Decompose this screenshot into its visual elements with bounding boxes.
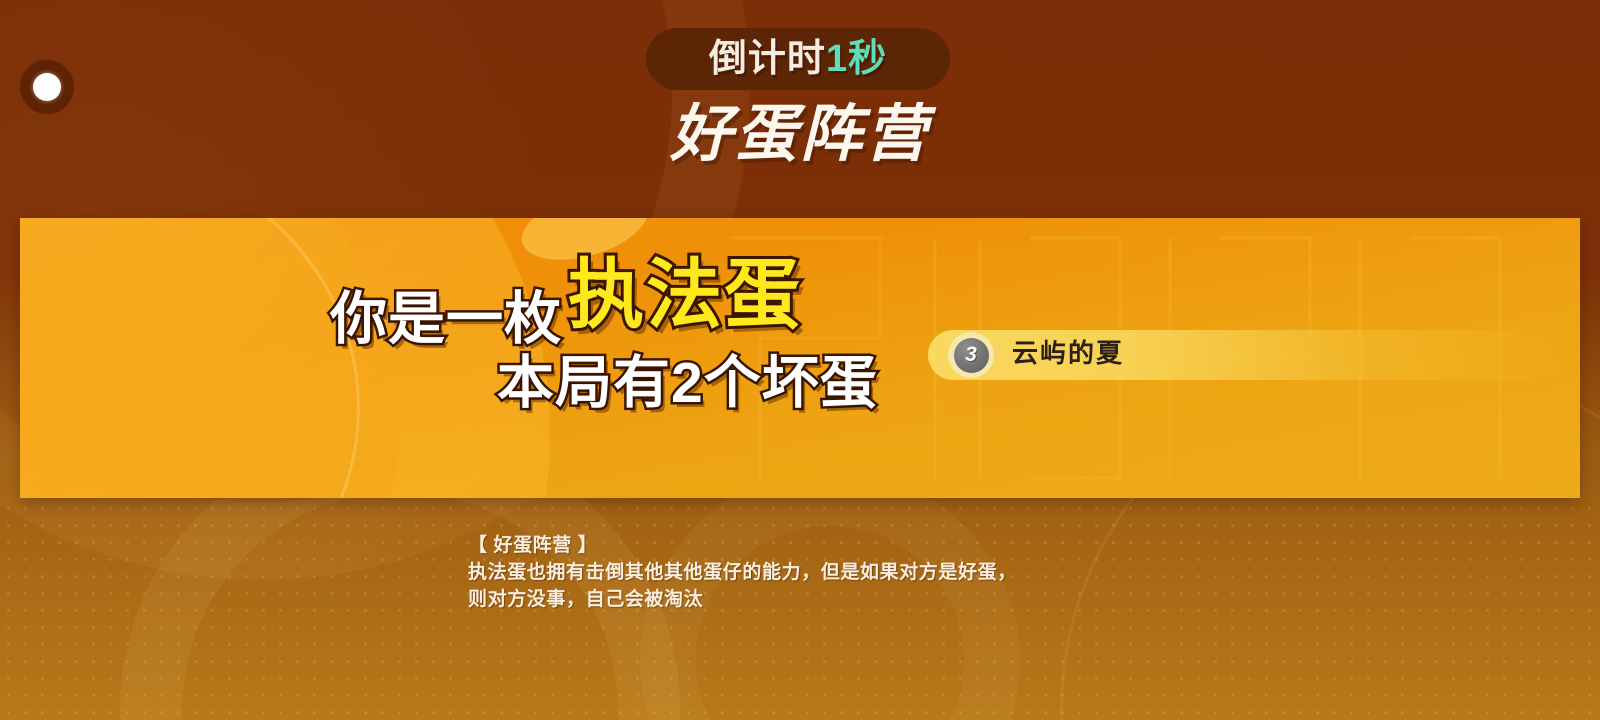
description-heading: 【 好蛋阵营 】 <box>468 532 1168 559</box>
role-reveal-screen: 倒计时 1秒 好蛋阵营 你是一枚 执法蛋 本局有2个坏蛋 <box>0 0 1600 720</box>
description-line-2: 则对方没事，自己会被淘汰 <box>468 586 1168 613</box>
countdown-label: 倒计时 <box>709 40 826 78</box>
player-number-value: 3 <box>954 338 989 373</box>
description-line-1: 执法蛋也拥有击倒其他其他蛋仔的能力，但是如果对方是好蛋， <box>468 559 1168 586</box>
player-name-text: 云屿的夏 <box>1012 340 1124 366</box>
camp-title: 好蛋阵营 <box>0 104 1600 166</box>
countdown-value: 1秒 <box>826 40 887 78</box>
player-number-badge: 3 <box>948 332 994 378</box>
role-line-2: 本局有2个坏蛋 <box>497 355 878 412</box>
countdown-pill: 倒计时 1秒 <box>646 28 950 90</box>
corner-bubble-dot <box>33 73 61 101</box>
role-description: 【 好蛋阵营 】 执法蛋也拥有击倒其他其他蛋仔的能力，但是如果对方是好蛋， 则对… <box>468 532 1168 613</box>
role-prefix-text: 你是一枚 <box>330 291 562 348</box>
role-name-text: 执法蛋 <box>568 258 802 334</box>
banner-ring-decoration <box>20 218 360 498</box>
role-line-1: 你是一枚 执法蛋 <box>330 272 802 348</box>
